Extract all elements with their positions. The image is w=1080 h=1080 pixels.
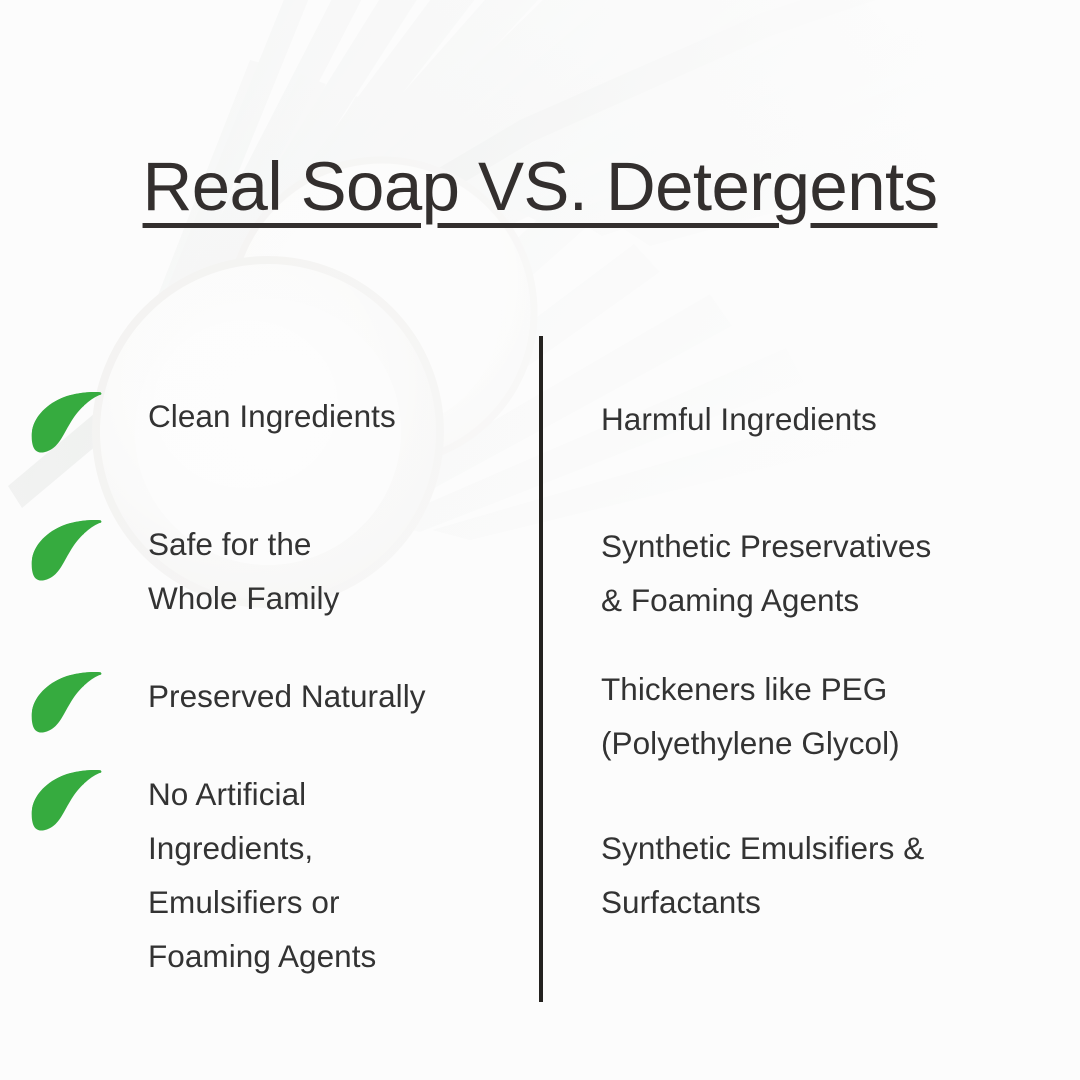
list-item: Preserved Naturally xyxy=(0,669,426,733)
palm-frond-graphic xyxy=(8,0,1066,540)
leaf-icon xyxy=(30,391,104,453)
page-title-container: Real Soap VS. Detergents xyxy=(0,148,1080,225)
infographic-canvas: Real Soap VS. Detergents Clean Ingredien… xyxy=(0,0,1080,1080)
list-item: Synthetic Preservatives & Foaming Agents xyxy=(540,519,931,627)
list-item-label: No Artificial Ingredients, Emulsifiers o… xyxy=(148,767,376,983)
list-item: Clean Ingredients xyxy=(0,389,396,453)
list-item-label: Synthetic Emulsifiers & Surfactants xyxy=(601,821,924,929)
list-item-label: Thickeners like PEG (Polyethylene Glycol… xyxy=(601,662,900,770)
leaf-icon xyxy=(30,769,104,831)
leaf-icon xyxy=(30,519,104,581)
list-item: Synthetic Emulsifiers & Surfactants xyxy=(540,821,924,929)
list-item: Safe for the Whole Family xyxy=(0,517,339,625)
leaf-icon xyxy=(30,671,104,733)
list-item-label: Synthetic Preservatives & Foaming Agents xyxy=(601,519,931,627)
list-item: Harmful Ingredients xyxy=(540,392,877,446)
list-item-label: Harmful Ingredients xyxy=(601,392,877,446)
list-item-label: Clean Ingredients xyxy=(148,389,396,443)
list-item-label: Safe for the Whole Family xyxy=(148,517,339,625)
list-item: No Artificial Ingredients, Emulsifiers o… xyxy=(0,767,376,983)
list-item: Thickeners like PEG (Polyethylene Glycol… xyxy=(540,662,900,770)
page-title: Real Soap VS. Detergents xyxy=(143,148,938,225)
list-item-label: Preserved Naturally xyxy=(148,669,426,723)
